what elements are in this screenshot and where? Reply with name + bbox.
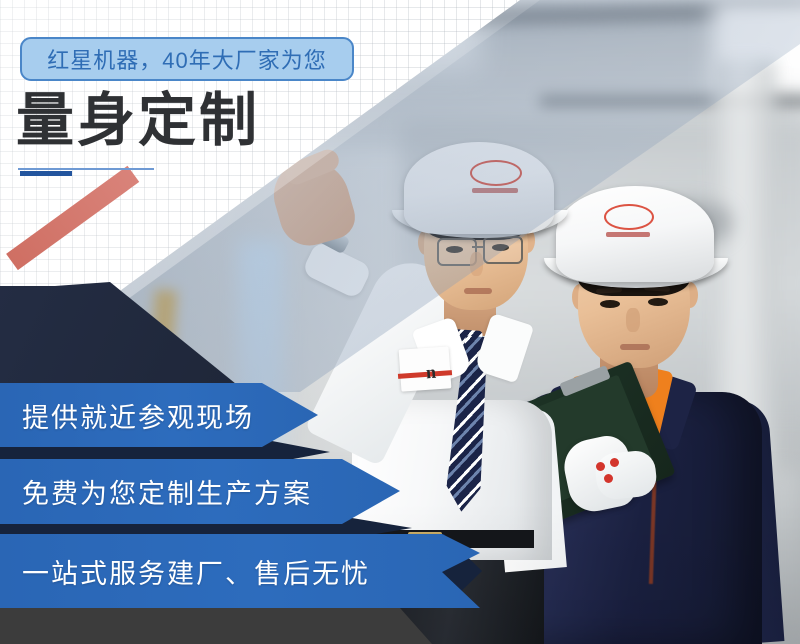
worker-left-nose bbox=[470, 252, 483, 276]
worker-right-helmet-logo-icon bbox=[604, 204, 654, 230]
promo-banner: n 红星机器，40年大厂家为您 量身定制 bbox=[0, 0, 800, 644]
glove-logo-dot-1 bbox=[596, 462, 605, 471]
eyeglasses-bridge bbox=[472, 246, 485, 248]
feature-bar-2: 免费为您定制生产方案 bbox=[0, 459, 400, 524]
page-title: 量身定制 bbox=[16, 92, 260, 150]
tagline-badge-text: 红星机器，40年大厂家为您 bbox=[47, 43, 326, 75]
headline-rule-thick bbox=[20, 171, 72, 176]
worker-left-mouth bbox=[464, 288, 492, 294]
feature-bar-2-label: 免费为您定制生产方案 bbox=[0, 472, 312, 511]
headline-rule-thin bbox=[18, 168, 154, 170]
chest-badge-letter: n bbox=[425, 362, 436, 384]
feature-bar-1-label: 提供就近参观现场 bbox=[0, 396, 254, 435]
glove-logo-dot-3 bbox=[604, 474, 613, 483]
feature-bar-3: 一站式服务建厂、售后无忧 bbox=[0, 534, 480, 608]
feature-bar-1: 提供就近参观现场 bbox=[0, 383, 318, 447]
bottom-dark-strip bbox=[0, 608, 432, 644]
tagline-badge: 红星机器，40年大厂家为您 bbox=[20, 37, 354, 81]
worker-right-eye-left bbox=[600, 300, 620, 308]
worker-left-helmet-logo-text bbox=[472, 188, 518, 193]
worker-right-eye-right bbox=[648, 298, 668, 306]
worker-left-helmet-logo-icon bbox=[470, 160, 522, 186]
feature-bar-3-label: 一站式服务建厂、售后无忧 bbox=[0, 552, 370, 591]
eyeglasses-right-lens bbox=[483, 236, 523, 264]
worker-right-nose bbox=[626, 308, 640, 332]
glove-logo-dot-2 bbox=[610, 458, 619, 467]
worker-right-helmet-logo-text bbox=[606, 232, 650, 237]
worker-right-mouth bbox=[620, 344, 650, 350]
